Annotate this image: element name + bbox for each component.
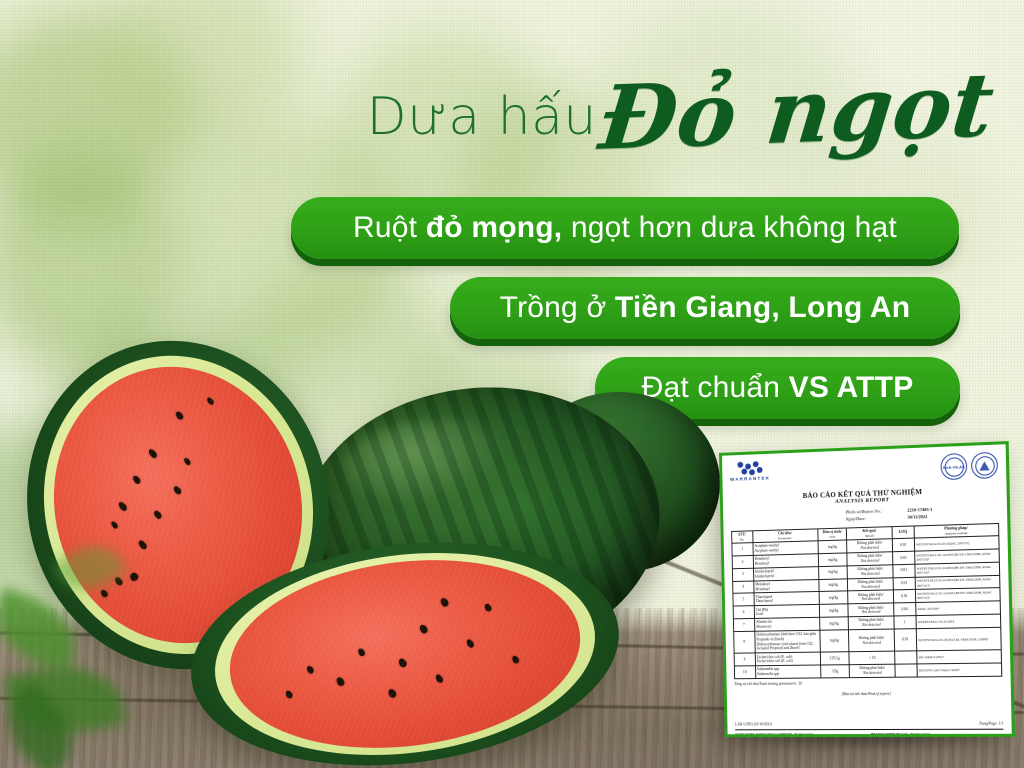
cell-result: Không phát hiện/Not detected xyxy=(847,552,893,566)
watermelon-seed xyxy=(387,688,398,699)
feature-pill-flesh[interactable]: Ruột đỏ mọng, ngọt hơn dưa không hạt xyxy=(291,197,959,259)
cell-no: 8 xyxy=(734,631,755,653)
watermelon-seed xyxy=(335,675,346,686)
end-of-report: [Bản tin kết thúc/End of report] xyxy=(734,691,1002,697)
watermelon-seed xyxy=(118,501,129,513)
page-number: Trang/Page: 1/1 xyxy=(979,722,1003,726)
address-block-left: WARRANTEK JOINT STOCK COMPANY - Testing … xyxy=(735,732,863,737)
cell-result: Không phát hiện/Not detected xyxy=(847,565,893,579)
cell-result: Không phát hiện/Not detected xyxy=(849,616,895,630)
warrantek-logo: WARRANTEK xyxy=(730,461,770,482)
cell-unit: /25g xyxy=(820,665,849,678)
cell-unit: mg/kg xyxy=(819,604,848,617)
results-table: STT/No. Chỉ tiêu/Parameter Đơn vị tính/U… xyxy=(731,523,1002,680)
vilas-triangle-icon xyxy=(979,461,989,471)
feature-pill-label: Trồng ở Tiền Giang, Long An xyxy=(500,291,911,325)
watermelon-seed xyxy=(357,647,366,657)
watermelon-seed xyxy=(206,396,215,405)
cell-loq: 0.01 xyxy=(892,538,914,551)
form-code: LAB-13/F01 (01/10/2021) xyxy=(735,722,772,726)
address-left-title: WARRANTEK JOINT STOCK COMPANY - Testing … xyxy=(735,732,813,736)
cell-unit: mg/kg xyxy=(818,553,847,567)
cell-unit: CFU/g xyxy=(820,652,849,665)
cell-no: 1 xyxy=(732,543,753,556)
watermelon-seed xyxy=(137,539,148,551)
poster-canvas: Dưa hấu Đỏ ngọt Ruột đỏ mọng, ngọt hơn d… xyxy=(0,0,1024,768)
cell-result: Không phát hiện/Not detected xyxy=(848,603,894,617)
cell-result: < 10 xyxy=(849,651,895,664)
cell-loq: 0.01 xyxy=(893,564,915,577)
col-no: STT/No. xyxy=(732,530,753,543)
cell-result: Không phát hiện/Not detected xyxy=(848,577,894,591)
seal-label: BoA-VILAS xyxy=(943,464,965,470)
watermelon-seed xyxy=(153,509,163,520)
certificate-footer-row: LAB-13/F01 (01/10/2021) Trang/Page: 1/1 xyxy=(735,722,1003,727)
watermelon-seed xyxy=(483,602,492,612)
cell-no: 9 xyxy=(734,653,755,666)
watermelon-seed xyxy=(466,638,476,649)
cell-no: 5 xyxy=(733,593,754,606)
cell-parameter: Escherichia coli (E. coli)Escherichia co… xyxy=(755,652,821,665)
cell-loq xyxy=(895,664,917,677)
watermelon-seed xyxy=(99,588,109,598)
watermelon-seed xyxy=(418,623,429,634)
watermelon-seed xyxy=(129,572,140,583)
watermelon-seed xyxy=(174,410,184,421)
watermelon-seed xyxy=(284,689,293,699)
cell-parameter: AbamectinAbamectin xyxy=(754,617,820,631)
total-parameters: Tổng số chỉ tiêu/Total testing parameter… xyxy=(734,680,1002,686)
cell-no: 10 xyxy=(734,666,755,679)
report-date-label: Ngày/Date: xyxy=(846,514,908,523)
cell-loq: 0.01 xyxy=(893,551,915,564)
watermelon-seed xyxy=(132,475,142,486)
report-date-value: 30/11/2022 xyxy=(907,514,927,521)
watermelon-seed xyxy=(183,456,192,465)
vilas-seal-icon xyxy=(971,452,998,479)
col-unit: Đơn vị tính/Unit xyxy=(818,528,847,541)
cell-unit: mg/kg xyxy=(820,630,850,653)
cell-loq: 0.01 xyxy=(893,590,915,603)
page-title: Dưa hấu Đỏ ngọt xyxy=(352,62,992,172)
cell-unit: mg/kg xyxy=(819,617,848,630)
cell-parameter: ThiaclopridThiacloprid xyxy=(754,592,820,606)
boa-seal-icon: BoA-VILAS xyxy=(940,453,967,480)
feature-pill-label: Đạt chuẩn VS ATTP xyxy=(642,371,914,405)
cell-result: Không phát hiện/Not detected xyxy=(849,629,895,652)
cell-no: 2 xyxy=(732,555,753,568)
cell-parameter: Salmonella spp.Salmonella spp. xyxy=(755,665,821,678)
cell-method: ISO 6579-1:2017/Amd 1:2020* xyxy=(917,663,1002,677)
cell-no: 6 xyxy=(733,606,754,619)
watermelon-seed xyxy=(434,673,444,684)
feature-pill-origin[interactable]: Trồng ở Tiền Giang, Long An xyxy=(450,277,960,339)
address-right-title: HEADQUARTER (Branch) - Testing Center xyxy=(871,732,930,736)
table-row: 10Salmonella spp.Salmonella spp./25gKhôn… xyxy=(734,663,1001,679)
cell-unit: mg/kg xyxy=(818,566,847,579)
watermelon-seed xyxy=(148,448,159,460)
watermelon-seed xyxy=(511,654,520,664)
cell-result: Không phát hiện/Not detected xyxy=(847,539,893,553)
watermelon-highlight xyxy=(340,412,513,510)
certificate-header: WARRANTEK BoA-VILAS xyxy=(730,452,998,488)
certificate-address: WARRANTEK JOINT STOCK COMPANY - Testing … xyxy=(735,729,1004,738)
col-loq: LOQ xyxy=(892,526,914,539)
cell-loq xyxy=(895,651,917,664)
cell-unit: mg/kg xyxy=(819,579,848,592)
cell-loq: 0.01 xyxy=(894,629,916,652)
logo-dots-icon xyxy=(737,461,762,476)
cell-result: Không phát hiện/Not detected xyxy=(850,664,896,677)
feature-pill-label: Ruột đỏ mọng, ngọt hơn dưa không hạt xyxy=(353,211,897,245)
results-table-body: 1Acephate-methylAcephate-methylmg/kgKhôn… xyxy=(732,536,1002,679)
cell-unit: mg/kg xyxy=(818,540,847,554)
cell-loq: 0.04 xyxy=(894,603,916,616)
cell-loq: 1 xyxy=(894,616,916,629)
watermelon-seed xyxy=(110,520,119,529)
cell-method: WI/TEST.M.GC/01.06 (EU) RL-SRM (VER.2.20… xyxy=(916,627,1001,651)
watermelon-flesh xyxy=(219,542,591,767)
cell-no: 3 xyxy=(732,568,753,581)
address-block-right: HEADQUARTER (Branch) - Testing Center Ta… xyxy=(871,732,1004,737)
cell-method: WI/TEST.M.LC/01.25:2019 xyxy=(916,614,1001,628)
cell-method: ISO 16649-2:2001* xyxy=(916,650,1001,664)
cell-no: 4 xyxy=(733,581,754,594)
cell-loq: 0.01 xyxy=(893,577,915,590)
brand-name: WARRANTEK xyxy=(730,475,770,481)
title-lead: Dưa hấu xyxy=(367,91,597,143)
certificate-shadow xyxy=(716,735,1012,751)
cell-unit: mg/kg xyxy=(819,591,848,604)
watermelon-seed xyxy=(397,657,408,668)
watermelon-seed xyxy=(439,596,450,607)
cell-parameter: Dithiocarbamate (tính theo CS2, bao gồm … xyxy=(754,630,820,653)
certificate-document[interactable]: WARRANTEK BoA-VILAS BÁO CÁO KẾT QUẢ THỬ … xyxy=(719,441,1015,737)
accreditation-seals: BoA-VILAS xyxy=(940,452,998,481)
watermelon-seed xyxy=(306,665,315,675)
cell-no: 7 xyxy=(733,619,754,632)
watermelon-seed xyxy=(172,484,182,495)
title-script: Đỏ ngọt xyxy=(596,63,998,160)
cell-parameter: Chì (Pb)Lead xyxy=(754,605,820,619)
cell-result: Không phát hiện/Not detected xyxy=(848,590,894,604)
